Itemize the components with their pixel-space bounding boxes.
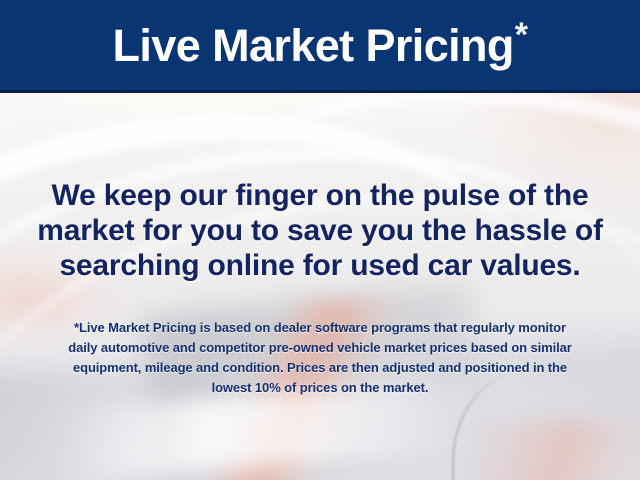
disclaimer-line-1: *Live Market Pricing is based on dealer …	[20, 318, 620, 338]
disclaimer: *Live Market Pricing is based on dealer …	[20, 318, 620, 398]
live-market-pricing-banner: Live Market Pricing* We keep our finger …	[0, 0, 640, 480]
page-title: Live Market Pricing*	[0, 0, 640, 90]
headline-line-1: We keep our finger on the pulse of the	[18, 178, 622, 213]
disclaimer-line-2: daily automotive and competitor pre-owne…	[20, 338, 620, 358]
page-title-text: Live Market Pricing	[113, 23, 514, 68]
headline: We keep our finger on the pulse of the m…	[18, 178, 622, 283]
disclaimer-line-4: lowest 10% of prices on the market.	[20, 378, 620, 398]
headline-line-2: market for you to save you the hassle of	[18, 213, 622, 248]
headline-line-3: searching online for used car values.	[18, 248, 622, 283]
disclaimer-line-3: equipment, mileage and condition. Prices…	[20, 358, 620, 378]
